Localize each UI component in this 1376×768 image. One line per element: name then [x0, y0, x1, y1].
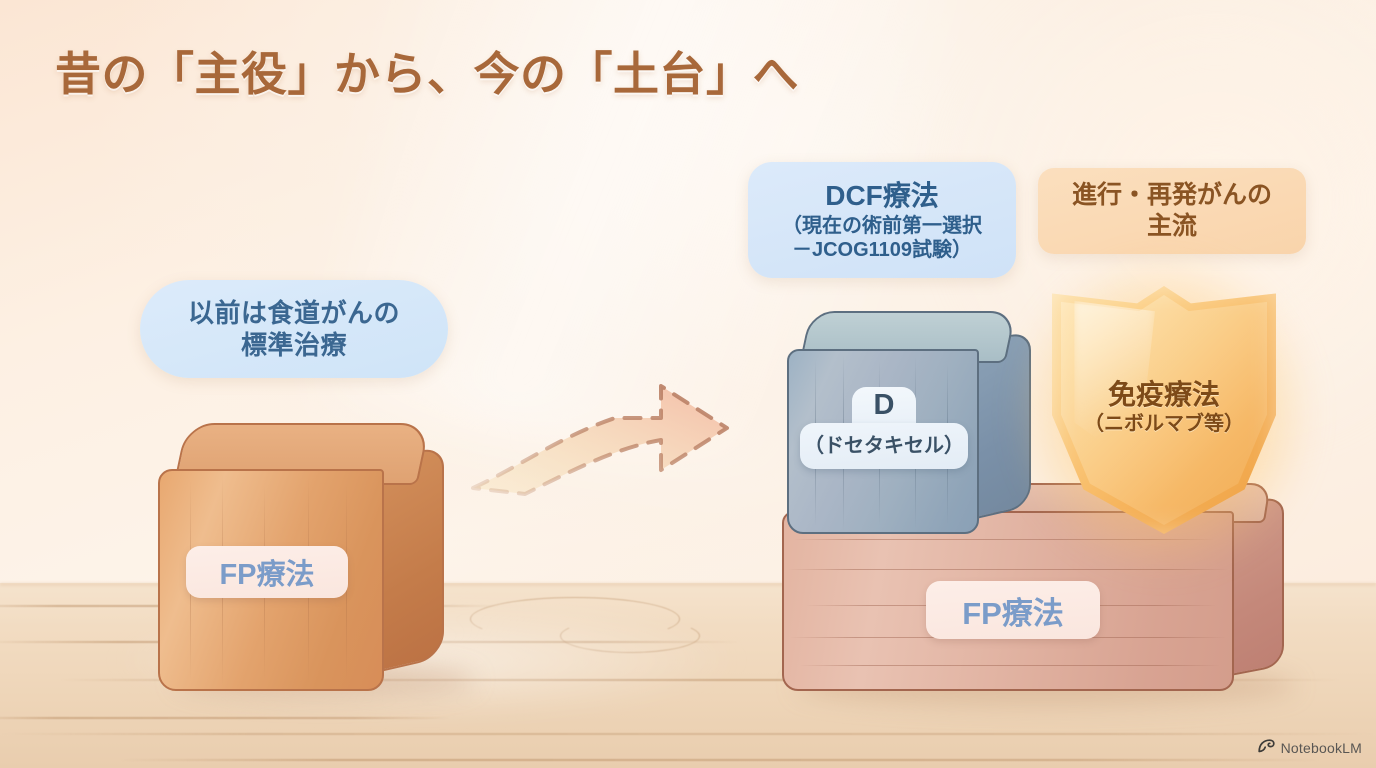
- docetaxel-label: D （ドセタキセル）: [800, 387, 968, 469]
- notebooklm-watermark: NotebookLM: [1258, 739, 1362, 756]
- slide-canvas: 昔の「主役」から、今の「土台」へ 以前は食道がんの 標準治療 DCF療法 （現在…: [0, 0, 1376, 768]
- foundation-fp-label-text: FP療法: [962, 588, 1064, 633]
- notebooklm-label: NotebookLM: [1281, 740, 1362, 756]
- immunotherapy-shield: 免疫療法 （ニボルマブ等）: [1052, 286, 1276, 534]
- old-fp-label: FP療法: [186, 546, 348, 598]
- old-standard-line2: 標準治療: [188, 329, 400, 362]
- page-title: 昔の「主役」から、今の「土台」へ: [55, 38, 799, 104]
- dcf-subtitle-line1: （現在の術前第一選択: [782, 214, 982, 238]
- advanced-cancer-line1: 進行・再発がんの: [1072, 180, 1272, 211]
- old-fp-label-text: FP療法: [219, 551, 314, 593]
- old-standard-line1: 以前は食道がんの: [188, 297, 400, 330]
- advanced-cancer-line2: 主流: [1072, 211, 1272, 242]
- advanced-cancer-callout: 進行・再発がんの 主流: [1038, 168, 1306, 254]
- shield-label: 免疫療法 （ニボルマブ等）: [1052, 378, 1276, 437]
- foundation-fp-label: FP療法: [926, 581, 1100, 639]
- dcf-subtitle-line2: －JCOG1109試験）: [792, 238, 972, 262]
- shield-label-sub: （ニボルマブ等）: [1052, 412, 1276, 436]
- docetaxel-letter: D: [800, 389, 968, 422]
- dcf-title: DCF療法: [825, 178, 939, 213]
- docetaxel-name: （ドセタキセル）: [800, 429, 968, 458]
- dcf-callout: DCF療法 （現在の術前第一選択 －JCOG1109試験）: [748, 162, 1016, 278]
- transition-arrow: [465, 358, 745, 498]
- shield-label-main: 免疫療法: [1052, 378, 1276, 412]
- notebooklm-logo-icon: [1258, 739, 1275, 756]
- old-standard-callout: 以前は食道がんの 標準治療: [140, 280, 448, 378]
